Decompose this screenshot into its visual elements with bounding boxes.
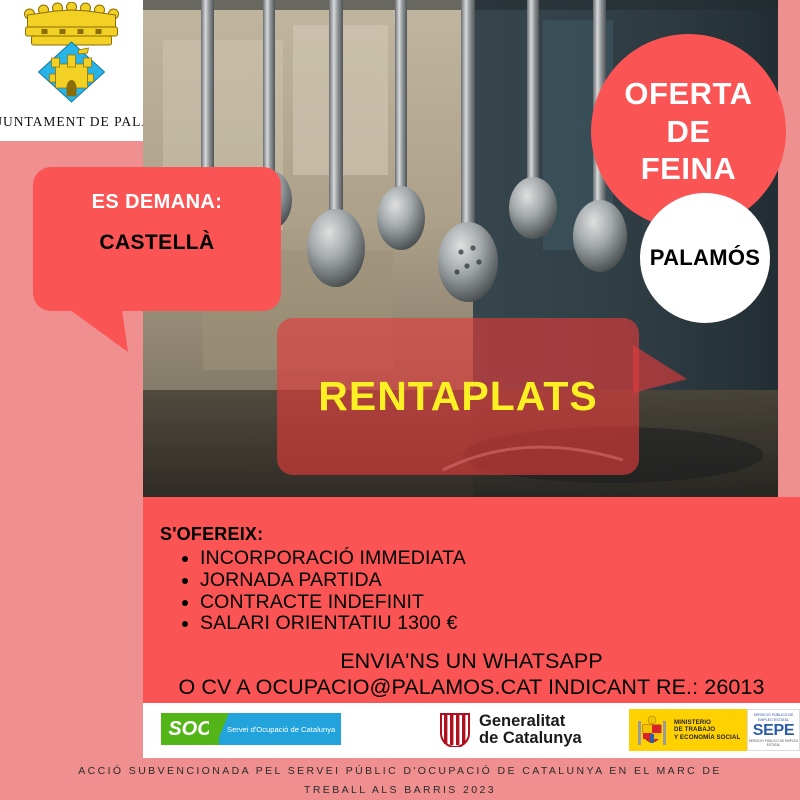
- ministerio-line-2: DE TRABAJO: [674, 726, 740, 734]
- requirement-value: CASTELLÀ: [33, 231, 281, 255]
- requirement-bubble: ES DEMANA: CASTELLÀ: [33, 167, 281, 311]
- job-title: RENTAPLATS: [277, 318, 639, 475]
- photo-right-margin: [778, 0, 800, 497]
- soc-subtitle-panel: Servei d'Ocupació de Catalunya: [219, 713, 341, 745]
- sepe-logo: SERVICIO PÚBLICO DE EMPLEO ESTATAL SEPE …: [747, 709, 800, 751]
- ministerio-line-1: MINISTERIO: [674, 719, 740, 727]
- requirement-heading: ES DEMANA:: [33, 191, 281, 214]
- offer-heading: S'OFEREIX:: [160, 524, 263, 545]
- sepe-top-text: SERVICIO PÚBLICO DE EMPLEO ESTATAL: [748, 713, 799, 722]
- sepe-bottom-text: SERVICIO PÚBLICO DE EMPLEO ESTATAL: [748, 739, 799, 747]
- footer-caption-line-2: TREBALL ALS BARRIS 2023: [0, 781, 800, 800]
- contact-block: ENVIA'NS UN WHATSAPP O CV A OCUPACIO@PAL…: [143, 648, 800, 700]
- soc-subtitle: Servei d'Ocupació de Catalunya: [227, 725, 335, 734]
- list-item: CONTRACTE INDEFINIT: [200, 592, 466, 614]
- spain-coat-of-arms-icon: [635, 713, 669, 747]
- crest-caption: AJUNTAMENT DE PALAMÓS: [0, 114, 143, 130]
- generalitat-line-1: Generalitat: [479, 713, 582, 731]
- ajuntament-logo-box: AJUNTAMENT DE PALAMÓS: [0, 0, 143, 141]
- footer-caption-line-1: ACCIÓ SUBVENCIONADA PEL SERVEI PÚBLIC D'…: [0, 762, 800, 781]
- sepe-acronym: SEPE: [753, 722, 795, 739]
- generalitat-line-2: de Catalunya: [479, 730, 582, 748]
- generalitat-text: Generalitat de Catalunya: [479, 713, 582, 748]
- ministerio-yellow-panel: MINISTERIO DE TRABAJO Y ECONOMÍA SOCIAL: [629, 709, 747, 751]
- generalitat-logo: Generalitat de Catalunya: [440, 711, 582, 749]
- requirement-bubble-tail: [70, 310, 130, 352]
- palamos-coat-of-arms-icon: [0, 2, 143, 114]
- offer-badge-line2: DE: [666, 113, 710, 151]
- ministerio-logo: MINISTERIO DE TRABAJO Y ECONOMÍA SOCIAL …: [629, 709, 800, 751]
- contact-line-1: ENVIA'NS UN WHATSAPP: [143, 648, 800, 674]
- location-badge-label: PALAMÓS: [650, 245, 760, 271]
- list-item: SALARI ORIENTATIU 1300 €: [200, 613, 466, 635]
- ministerio-line-3: Y ECONOMÍA SOCIAL: [674, 734, 740, 742]
- contact-line-2: O CV A OCUPACIO@PALAMOS.CAT INDICANT RE.…: [143, 674, 800, 700]
- list-item: JORNADA PARTIDA: [200, 570, 466, 592]
- footer-caption: ACCIÓ SUBVENCIONADA PEL SERVEI PÚBLIC D'…: [0, 762, 800, 800]
- offer-badge-line1: OFERTA: [624, 75, 752, 113]
- offer-list: INCORPORACIÓ IMMEDIATA JORNADA PARTIDA C…: [172, 548, 466, 635]
- offer-badge-line3: FEINA: [641, 150, 737, 188]
- list-item: INCORPORACIÓ IMMEDIATA: [200, 548, 466, 570]
- job-offer-poster: AJUNTAMENT DE PALAMÓS OFERTA DE FEINA PA…: [0, 0, 800, 800]
- location-badge: PALAMÓS: [640, 193, 770, 323]
- senyera-shield-icon: [440, 713, 470, 747]
- ministerio-text: MINISTERIO DE TRABAJO Y ECONOMÍA SOCIAL: [674, 719, 740, 742]
